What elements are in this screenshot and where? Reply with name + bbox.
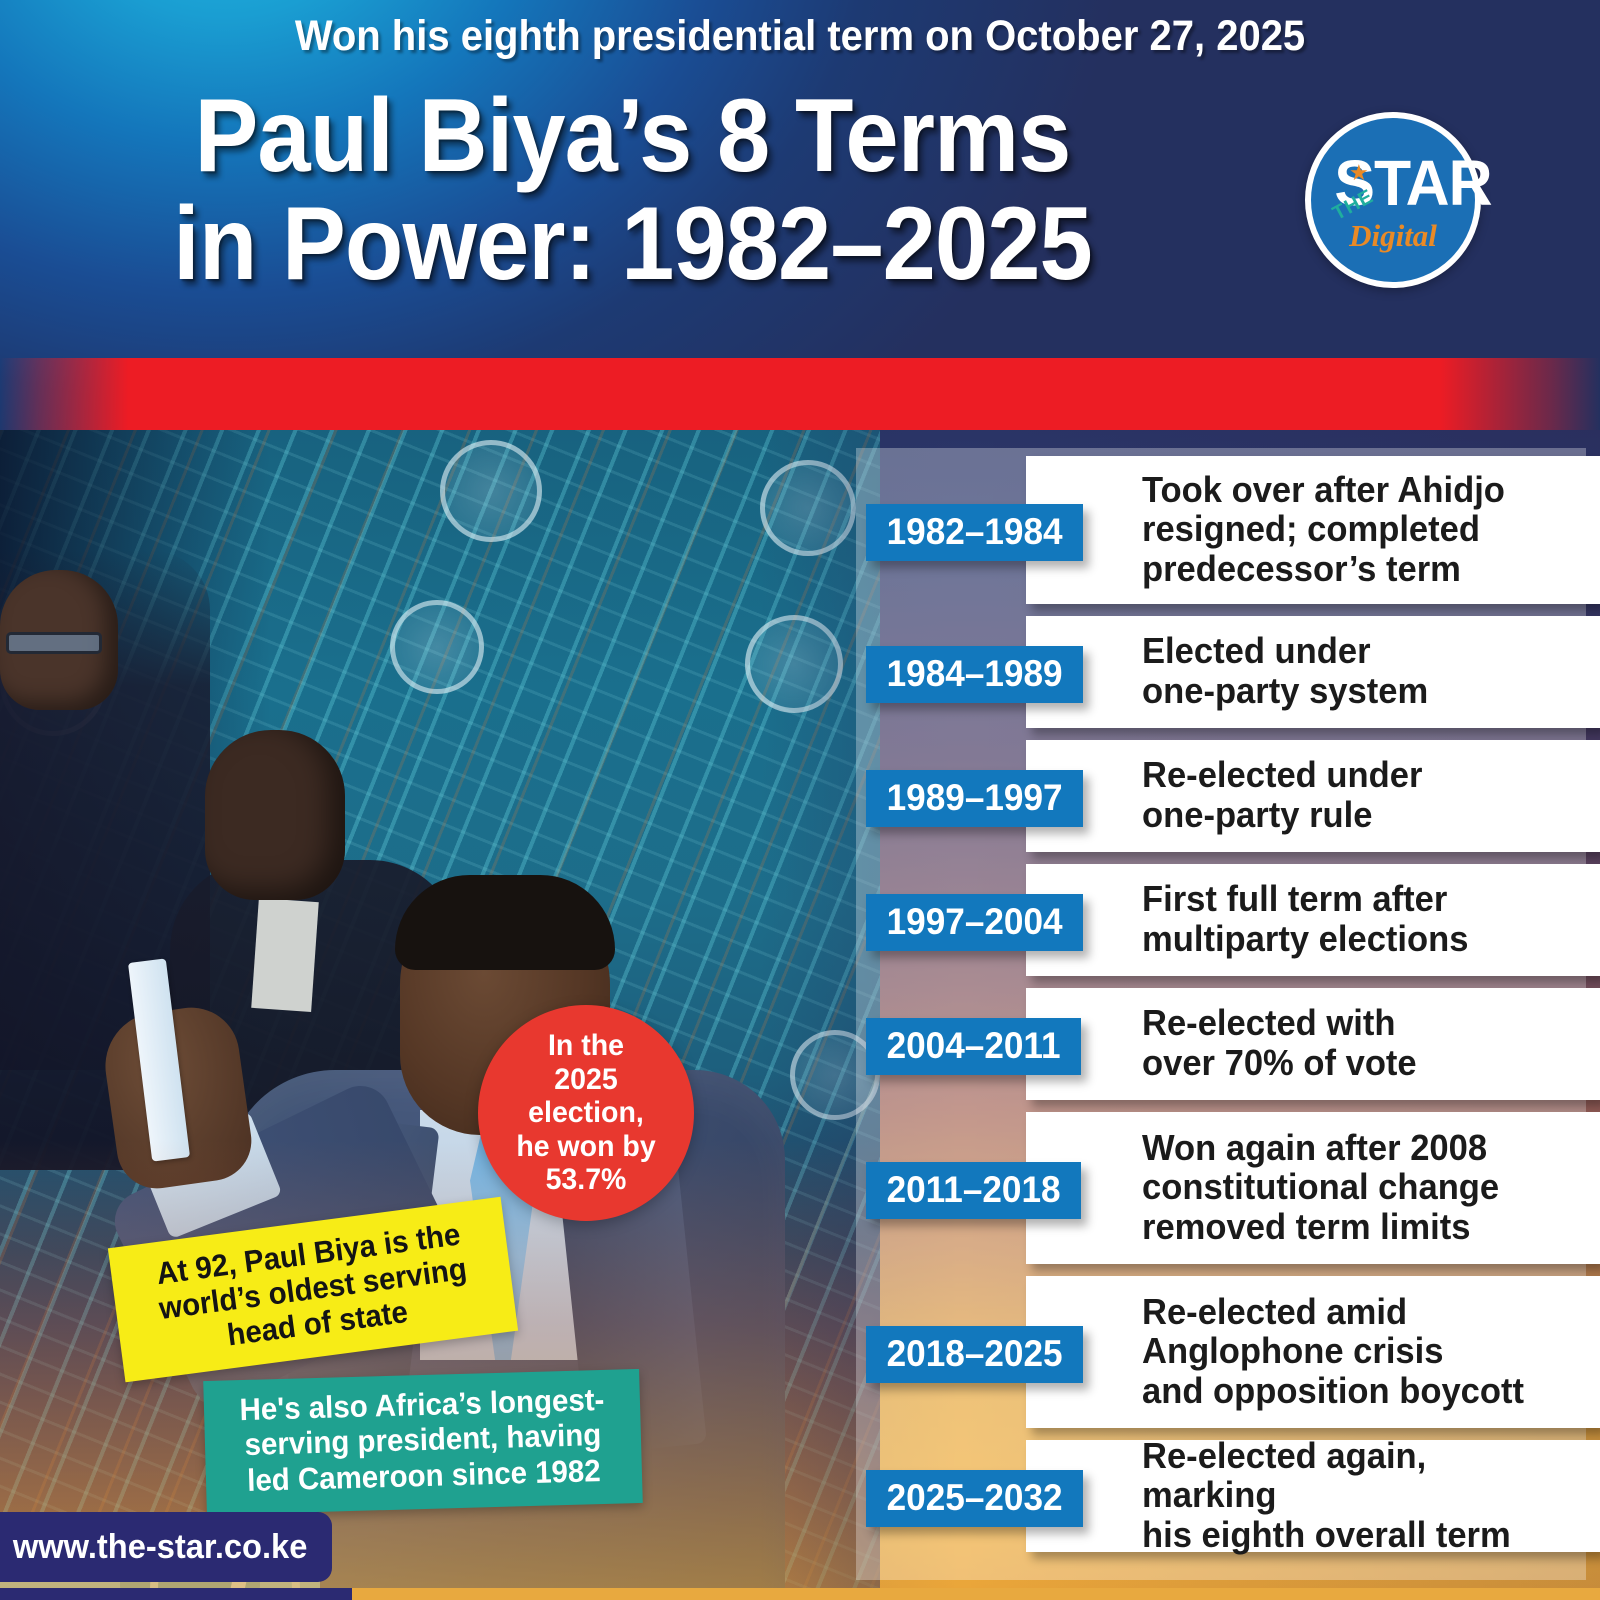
backdrop-emblem-icon — [440, 440, 542, 542]
timeline-item-card: Re-elected with over 70% of vote — [1026, 988, 1600, 1100]
timeline-item-description: Took over after Ahidjo resigned; complet… — [1142, 470, 1505, 589]
timeline-item-description: Re-elected with over 70% of vote — [1142, 1003, 1417, 1082]
timeline-item: Re-elected with over 70% of vote2004–201… — [856, 988, 1600, 1100]
timeline-item-year-label: 2018–2025 — [887, 1335, 1063, 1372]
background-person-mid-shirt — [251, 898, 319, 1012]
backdrop-emblem-icon — [390, 600, 484, 694]
timeline-list: Took over after Ahidjo resigned; complet… — [856, 448, 1600, 1588]
longest-serving-text: He's also Africa’s longest- serving pres… — [232, 1382, 615, 1499]
infographic-root: CAM Paul Biya’s 8 Terms in Power: 1982–2… — [0, 0, 1600, 1600]
timeline-item-description: Re-elected again, marking his eighth ove… — [1142, 1436, 1568, 1555]
timeline-item-description: Won again after 2008 constitutional chan… — [1142, 1128, 1499, 1247]
header: Paul Biya’s 8 Terms in Power: 1982–2025 … — [0, 0, 1600, 360]
longest-serving-callout: He's also Africa’s longest- serving pres… — [203, 1369, 643, 1515]
timeline-item-year-label: 1984–1989 — [887, 655, 1063, 692]
the-star-digital-logo[interactable]: STAR ★ THE Digital — [1305, 112, 1481, 288]
timeline-item-year-badge: 2011–2018 — [866, 1162, 1081, 1219]
logo-digital-text: Digital — [1311, 218, 1475, 254]
timeline-item-card: First full term after multiparty electio… — [1026, 864, 1600, 976]
website-url: www.the-star.co.ke — [1, 1528, 307, 1567]
timeline-item: Elected under one-party system1984–1989 — [856, 616, 1600, 728]
timeline-item: Re-elected again, marking his eighth ove… — [856, 1440, 1600, 1552]
timeline-item-year-badge: 1989–1997 — [866, 770, 1083, 827]
timeline-item-year-badge: 2018–2025 — [866, 1326, 1083, 1383]
timeline-item-card: Elected under one-party system — [1026, 616, 1600, 728]
timeline-item: Re-elected under one-party rule1989–1997 — [856, 740, 1600, 852]
timeline-item-year-badge: 1984–1989 — [866, 646, 1083, 703]
timeline-item-description: Elected under one-party system — [1142, 631, 1428, 710]
timeline-item-card: Won again after 2008 constitutional chan… — [1026, 1112, 1600, 1264]
timeline-item-card: Re-elected under one-party rule — [1026, 740, 1600, 852]
timeline-item-card: Took over after Ahidjo resigned; complet… — [1026, 456, 1600, 604]
timeline-item-card: Re-elected again, marking his eighth ove… — [1026, 1440, 1600, 1552]
timeline-item-year-badge: 2004–2011 — [866, 1018, 1081, 1075]
timeline-item-year-label: 2011–2018 — [887, 1171, 1061, 1208]
subtitle-banner — [0, 358, 1600, 430]
background-person-mid-head — [205, 730, 345, 900]
timeline-item-description: Re-elected under one-party rule — [1142, 755, 1422, 834]
timeline-item-year-label: 2025–2032 — [887, 1479, 1063, 1516]
timeline-item-description: Re-elected amid Anglophone crisis and op… — [1142, 1292, 1524, 1411]
timeline-item: Won again after 2008 constitutional chan… — [856, 1112, 1600, 1264]
timeline-item-description: First full term after multiparty electio… — [1142, 879, 1468, 958]
timeline-item: Re-elected amid Anglophone crisis and op… — [856, 1276, 1600, 1428]
timeline-item: Took over after Ahidjo resigned; complet… — [856, 456, 1600, 604]
page-title-line-2: in Power: 1982–2025 — [51, 194, 1215, 296]
vote-share-callout-text: In the 2025 election, he won by 53.7% — [483, 1029, 688, 1197]
background-person-left-head — [0, 570, 118, 710]
timeline-item-card: Re-elected amid Anglophone crisis and op… — [1026, 1276, 1600, 1428]
website-footer[interactable]: www.the-star.co.ke — [0, 1512, 332, 1582]
page-title-line-1: Paul Biya’s 8 Terms — [51, 86, 1215, 188]
page-title: Paul Biya’s 8 Terms in Power: 1982–2025 — [0, 86, 1265, 296]
star-icon: ★ — [1349, 162, 1369, 184]
vote-share-callout: In the 2025 election, he won by 53.7% — [478, 1005, 694, 1221]
timeline-item-year-badge: 2025–2032 — [866, 1470, 1083, 1527]
timeline-item-year-badge: 1997–2004 — [866, 894, 1083, 951]
eyeglasses-icon — [6, 632, 102, 654]
timeline-item-year-badge: 1982–1984 — [866, 504, 1083, 561]
footer-strip — [0, 1588, 1600, 1600]
timeline-item-year-label: 2004–2011 — [887, 1027, 1061, 1064]
timeline-item-year-label: 1989–1997 — [887, 779, 1063, 816]
timeline-item: First full term after multiparty electio… — [856, 864, 1600, 976]
timeline-item-year-label: 1997–2004 — [887, 903, 1063, 940]
timeline-item-year-label: 1982–1984 — [887, 513, 1063, 550]
paul-biya-hair — [395, 875, 615, 970]
